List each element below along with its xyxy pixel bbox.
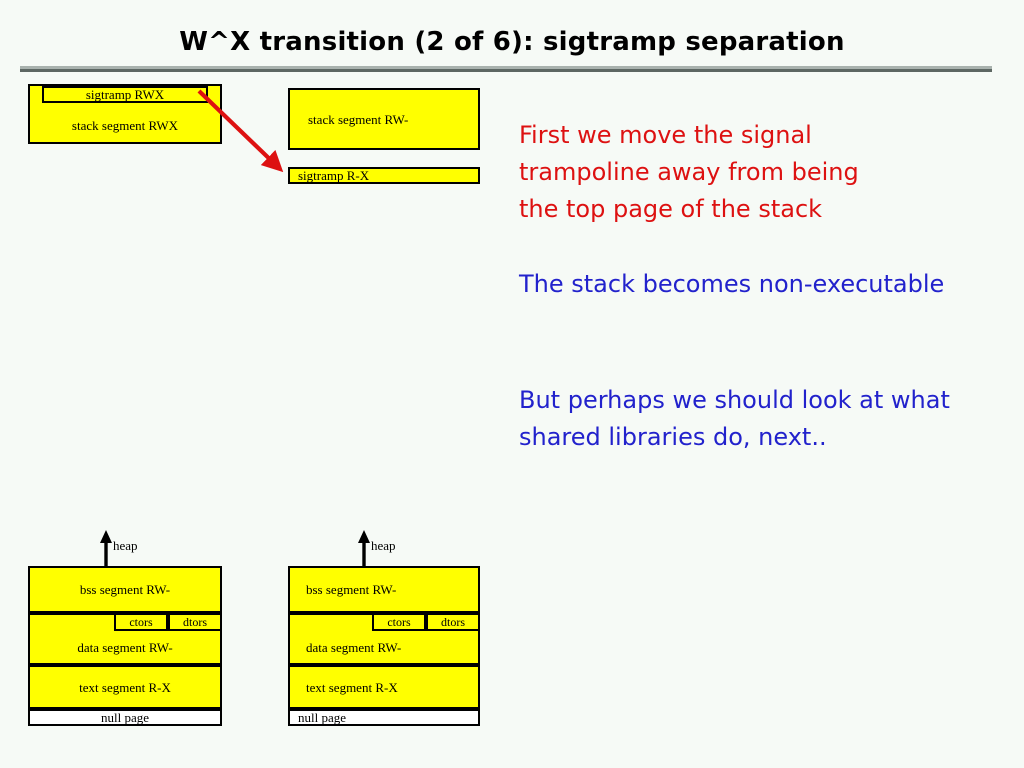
bss-segment-box-left: bss segment RW- [28,566,222,613]
page-title: W^X transition (2 of 6): sigtramp separa… [0,27,1024,57]
sigtramp-rx-box: sigtramp R-X [288,167,480,184]
ctors-label-right: ctors [387,616,410,628]
stack-segment-rwx-label: stack segment RWX [72,119,178,132]
stack-segment-rw-label: stack segment RW- [308,113,408,126]
title-divider [20,66,992,72]
sigtramp-rwx-label: sigtramp RWX [86,88,164,101]
dtors-box-right: dtors [426,613,480,631]
dtors-box-left: dtors [168,613,222,631]
text-segment-label-left: text segment R-X [79,681,171,694]
text-segment-box-left: text segment R-X [28,665,222,709]
dtors-label-left: dtors [183,616,207,628]
heap-label-right: heap [371,539,396,552]
bss-segment-label-right: bss segment RW- [298,583,396,596]
heap-label-left: heap [113,539,138,552]
bss-segment-label-left: bss segment RW- [80,583,170,596]
bss-segment-box-right: bss segment RW- [288,566,480,613]
slide-canvas: W^X transition (2 of 6): sigtramp separa… [0,0,1024,768]
note-red-text: First we move the signal trampoline away… [519,117,999,229]
null-page-label-right: null page [298,711,346,724]
note-blue-stack-text: The stack becomes non-executable [519,266,1009,303]
ctors-box-right: ctors [372,613,426,631]
null-page-box-right: null page [288,709,480,726]
data-segment-label-right: data segment RW- [298,641,401,654]
dtors-label-right: dtors [441,616,465,628]
text-segment-label-right: text segment R-X [298,681,398,694]
note-blue-libraries-text: But perhaps we should look at what share… [519,382,1009,456]
sigtramp-rwx-box: sigtramp RWX [42,86,208,103]
stack-segment-rw-box: stack segment RW- [288,88,480,150]
data-segment-label-left: data segment RW- [77,641,172,654]
ctors-box-left: ctors [114,613,168,631]
ctors-label-left: ctors [129,616,152,628]
sigtramp-rx-label: sigtramp R-X [298,169,369,182]
null-page-label-left: null page [101,711,149,724]
text-segment-box-right: text segment R-X [288,665,480,709]
null-page-box-left: null page [28,709,222,726]
